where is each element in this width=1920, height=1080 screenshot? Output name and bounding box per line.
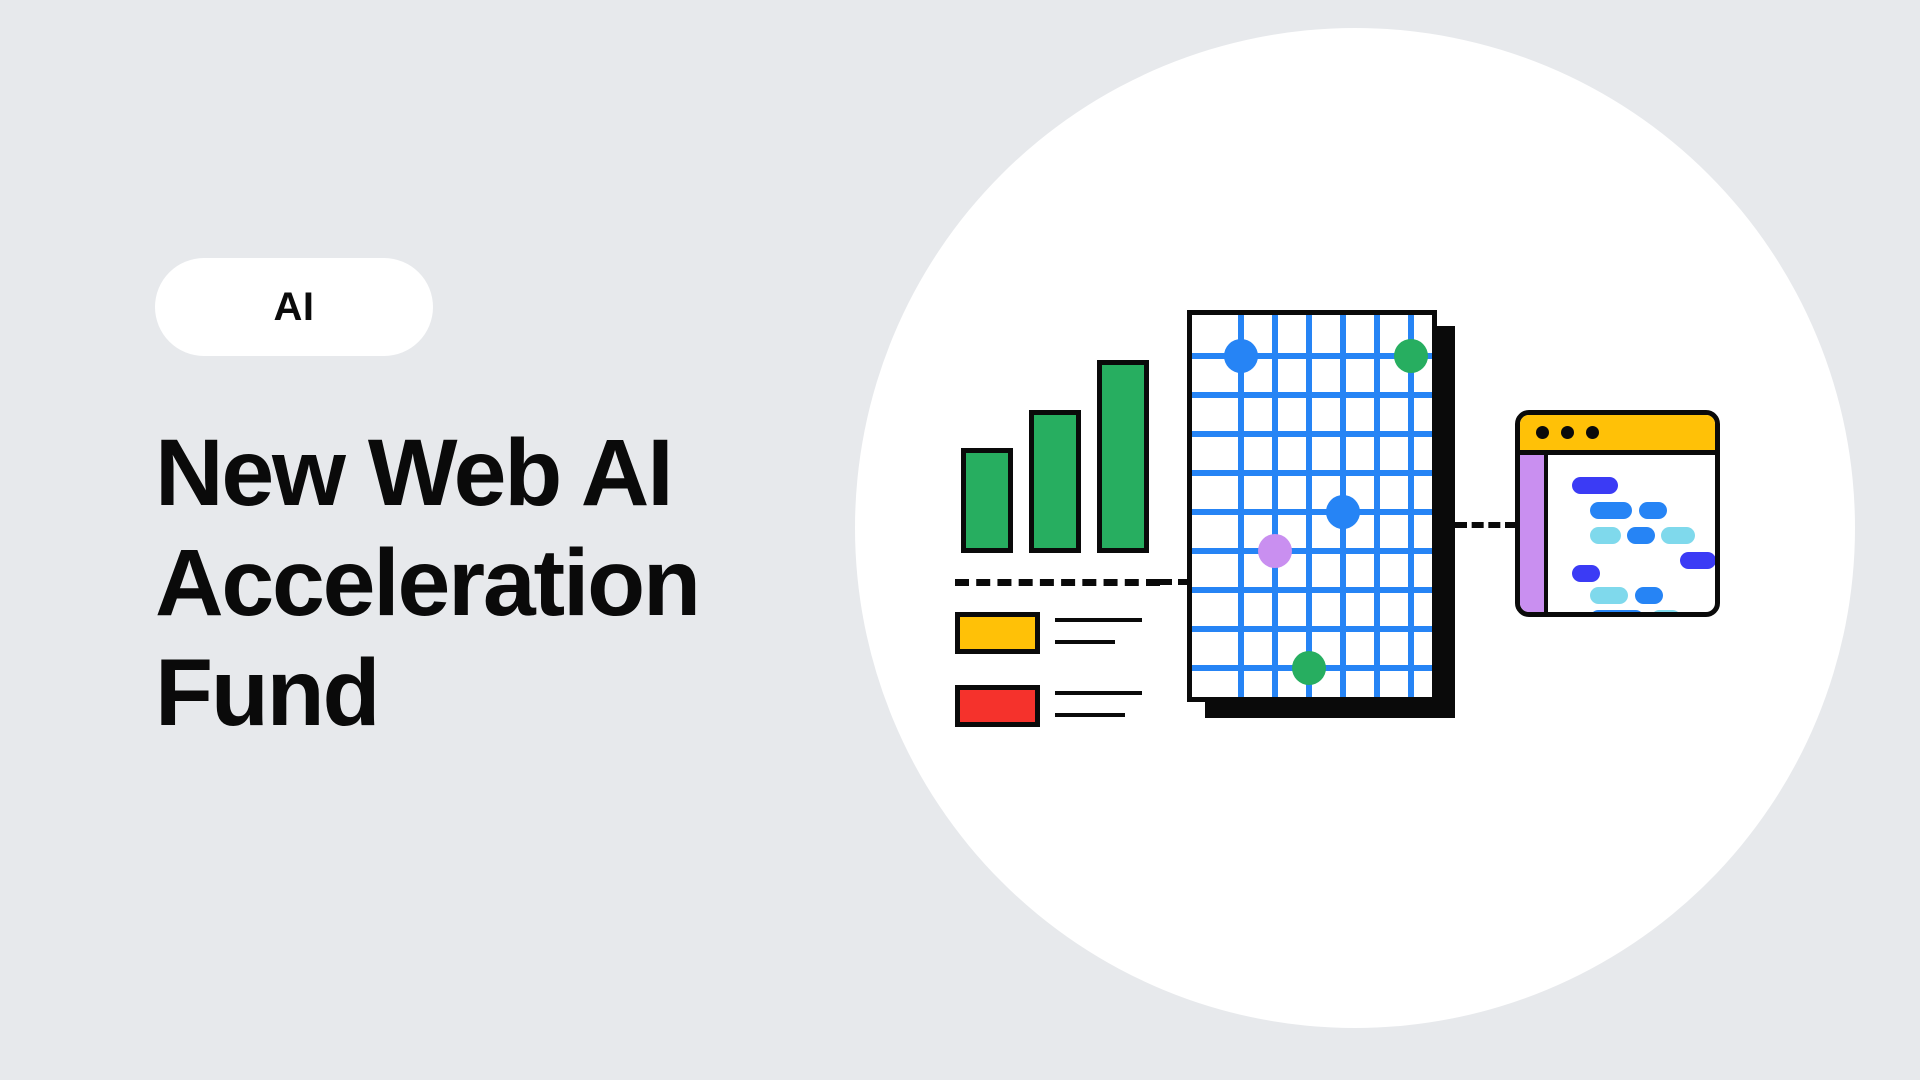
grid-line-h [1192,470,1432,476]
code-pill [1680,552,1716,569]
hero-illustration [855,28,1855,1028]
green-bar-2 [1029,410,1081,553]
point-purple-1 [1258,534,1292,568]
grid-line-h [1192,587,1432,593]
code-pill [1639,502,1667,519]
legend-swatch-yellow [955,612,1040,654]
legend-rule-red-2 [1055,713,1125,717]
grid-line-h [1192,392,1432,398]
green-bar-1 [961,448,1013,553]
grid-sheet [1187,310,1437,702]
grid-line-h [1192,509,1432,515]
code-pill [1651,610,1681,617]
connector-dashed-right [1455,522,1517,528]
hero-copy: AI New Web AI Acceleration Fund [155,258,835,749]
legend-rule-yellow-1 [1055,618,1142,622]
code-window-titlebar [1520,415,1715,455]
code-pill [1572,565,1600,582]
grid-line-h [1192,548,1432,554]
legend-swatch-red [955,685,1040,727]
category-badge[interactable]: AI [155,258,433,356]
code-pill [1590,610,1644,617]
legend-rule-yellow-2 [1055,640,1115,644]
page-canvas: AI New Web AI Acceleration Fund [0,0,1920,1080]
point-blue-2 [1326,495,1360,529]
grid-line-v [1306,315,1312,697]
legend-rule-red-1 [1055,691,1142,695]
code-pill [1572,477,1618,494]
code-pill [1590,587,1628,604]
code-window[interactable] [1515,410,1720,617]
grid-line-v [1272,315,1278,697]
illustration-art [855,28,1855,1028]
window-close-icon[interactable] [1536,426,1549,439]
code-window-sidebar [1520,455,1548,612]
code-pill [1635,587,1663,604]
point-blue-1 [1224,339,1258,373]
chart-divider-dashed [955,579,1160,586]
point-green-2 [1292,651,1326,685]
grid-line-v [1374,315,1380,697]
window-minimize-icon[interactable] [1561,426,1574,439]
code-pill [1661,527,1695,544]
window-maximize-icon[interactable] [1586,426,1599,439]
connector-dashed-left [1160,579,1190,585]
code-pill [1590,527,1621,544]
green-bar-3 [1097,360,1149,553]
point-green-1 [1394,339,1428,373]
grid-line-h [1192,431,1432,437]
code-pill [1627,527,1655,544]
code-pill [1590,502,1632,519]
grid-line-h [1192,626,1432,632]
page-title: New Web AI Acceleration Fund [155,418,815,749]
